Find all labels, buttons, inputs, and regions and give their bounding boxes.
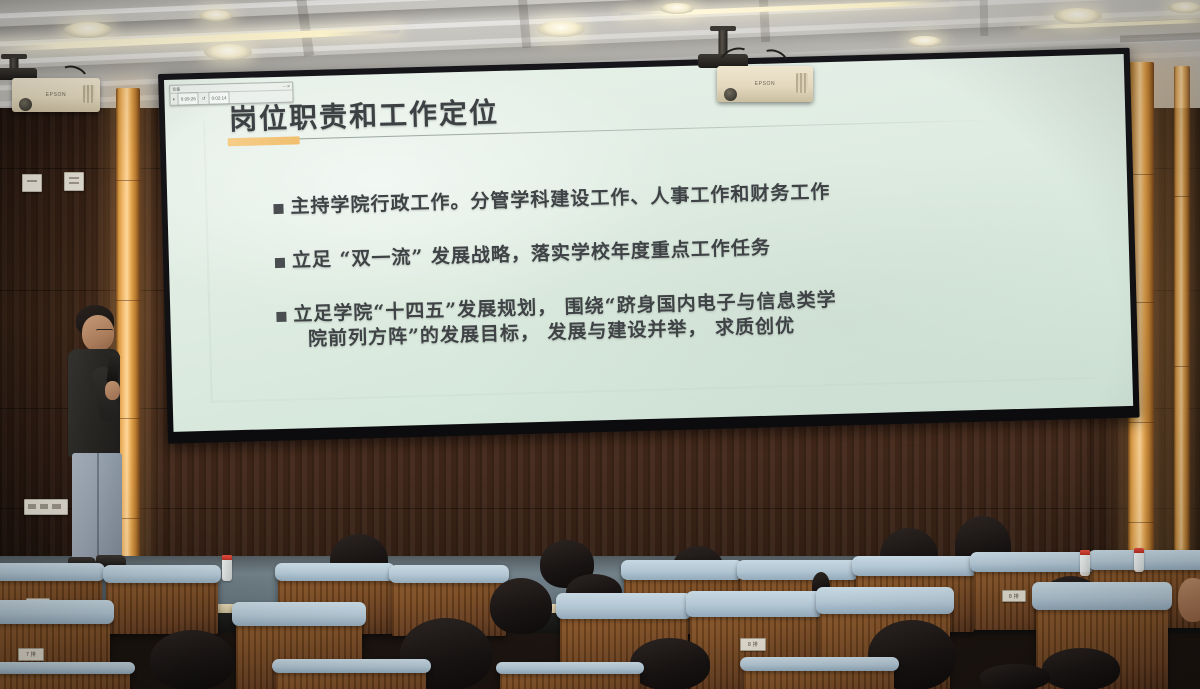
seat-number-plate: 8 排 [1002,590,1026,602]
ceiling-downlight [204,44,252,60]
water-bottle[interactable] [222,555,232,581]
media-player-overlay[interactable]: 音量 ─ ✕ ⏸ 0:09:26 ↺ 0:02:14 [169,82,294,106]
bullet-marker-icon [276,312,286,322]
seat-number-plate: 8 排 [740,638,766,651]
audience-head [1042,648,1120,689]
slide-content: 岗位职责和工作定位 主持学院行政工作。分管学科建设工作、人事工作和财务工作 立足… [164,54,1133,432]
slide-bullet-3: 立足学院“十四五”发展规划， 围绕“跻身国内电子与信息类学 院前列方阵”的发展目… [276,281,1087,353]
elapsed-time: 0:09:26 [178,92,199,106]
bullet-2-line-1: 立足 “双一流” 发展战略，落实学校年度重点工作任务 [292,236,772,274]
presenter [56,305,176,575]
presenter-jeans [72,453,122,561]
close-icon[interactable]: ✕ [287,84,290,89]
slide-bullet-1: 主持学院行政工作。分管学科建设工作、人事工作和财务工作 [273,173,1073,220]
ceiling-downlight [1168,2,1200,13]
ceiling-downlight [660,3,694,14]
bullet-marker-icon [273,204,283,214]
ceiling-downlight [908,36,942,47]
ceiling-downlight [1054,8,1102,24]
auditorium-seat[interactable] [106,574,218,634]
projection-screen: 岗位职责和工作定位 主持学院行政工作。分管学科建设工作、人事工作和财务工作 立足… [164,54,1133,432]
loop-icon[interactable]: ↺ [202,93,206,104]
media-overlay-controls-row[interactable]: ⏸ 0:09:26 ↺ 0:02:14 [170,91,292,105]
projector-brand-label: EPSON [12,92,100,98]
play-pause-icon[interactable]: ⏸ [172,94,175,105]
audience-head-skin [1178,578,1200,622]
auditorium-seat[interactable] [0,668,130,689]
wall-light-pillar-far-right [1174,66,1190,576]
auditorium-seat[interactable] [500,668,640,689]
presenter-hand [105,381,120,400]
auditorium-seat[interactable] [744,664,894,689]
auditorium-seat[interactable] [276,666,426,689]
seat-number-plate: 7 排 [18,648,44,661]
wall-socket-plate[interactable] [64,172,84,191]
audience-head [490,578,552,634]
wall-switch-plate[interactable] [22,174,42,192]
presenter-glasses [96,329,113,334]
ceiling-downlight [64,22,112,38]
water-bottle[interactable] [1134,548,1144,572]
bullet-1-line-1: 主持学院行政工作。分管学科建设工作、人事工作和财务工作 [290,180,830,220]
ceiling-downlight [199,10,233,21]
media-overlay-controls[interactable]: ─ ✕ [283,83,291,90]
title-accent-bar [228,136,300,146]
bullet-3-text-block: 立足学院“十四五”发展规划， 围绕“跻身国内电子与信息类学 院前列方阵”的发展目… [293,288,838,353]
bullet-marker-icon [275,258,285,268]
total-time: 0:02:14 [208,91,229,105]
water-bottle[interactable] [1080,550,1090,576]
audience-head [150,630,234,689]
ceiling-downlight [537,21,585,37]
projector-brand-label: EPSON [717,81,813,87]
minimize-icon[interactable]: ─ [283,84,286,89]
audience-head [980,664,1050,689]
lecture-hall-photo: 岗位职责和工作定位 主持学院行政工作。分管学科建设工作、人事工作和财务工作 立足… [0,0,1200,689]
slide-bullet-2: 立足 “双一流” 发展战略，落实学校年度重点工作任务 [275,227,1075,274]
